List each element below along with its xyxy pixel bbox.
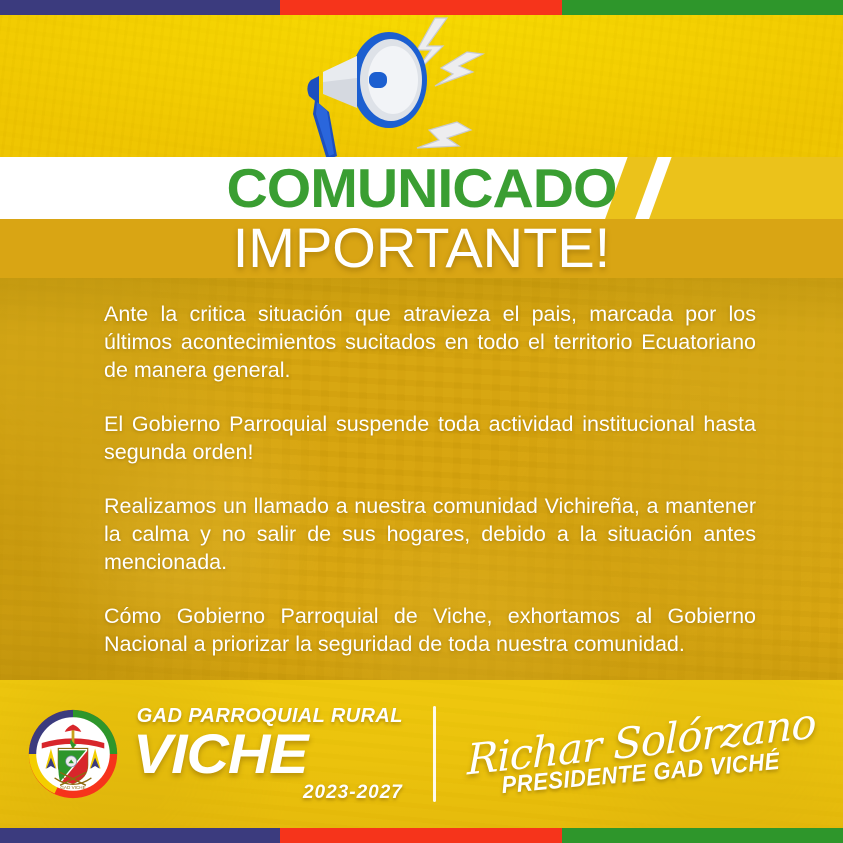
footer: GAD VICHE GAD PARROQUIAL RURAL VICHE 202… <box>0 680 843 828</box>
paragraph-3: Realizamos un llamado a nuestra comunida… <box>104 492 756 576</box>
page-subtitle: IMPORTANTE! <box>0 218 843 278</box>
brand-name: VICHE <box>133 728 307 780</box>
top-bar-segment-blue <box>0 0 280 15</box>
top-color-bar <box>0 0 843 15</box>
hero-banner <box>0 12 843 162</box>
comunicado-poster: COMUNICADO IMPORTANTE! Ante la critica s… <box>0 0 843 843</box>
bottom-color-bar <box>0 828 843 843</box>
paragraph-1: Ante la critica situación que atravieza … <box>104 300 756 384</box>
paragraph-4: Cómo Gobierno Parroquial de Viche, exhor… <box>104 602 756 658</box>
footer-row: GAD VICHE GAD PARROQUIAL RURAL VICHE 202… <box>0 680 843 828</box>
brand-period: 2023-2027 <box>303 782 403 804</box>
bottom-bar-segment-green <box>562 828 843 843</box>
footer-divider <box>433 706 436 802</box>
bottom-bar-segment-blue <box>0 828 280 843</box>
page-title: COMUNICADO <box>0 160 843 217</box>
paragraph-2: El Gobierno Parroquial suspende toda act… <box>104 410 756 466</box>
megaphone-icon <box>307 16 537 162</box>
gad-viche-coat-of-arms-icon: GAD VICHE <box>27 708 119 800</box>
bottom-bar-segment-red <box>280 828 562 843</box>
svg-text:GAD VICHE: GAD VICHE <box>60 785 85 790</box>
top-bar-segment-red <box>280 0 562 15</box>
top-bar-segment-green <box>562 0 843 15</box>
signature-block: Richar Solórzano PRESIDENTE GAD VICHÉ <box>466 720 816 788</box>
brand-lockup: GAD PARROQUIAL RURAL VICHE 2023-2027 <box>133 705 403 804</box>
message-panel: Ante la critica situación que atravieza … <box>0 278 843 680</box>
message-body: Ante la critica situación que atravieza … <box>104 300 756 680</box>
